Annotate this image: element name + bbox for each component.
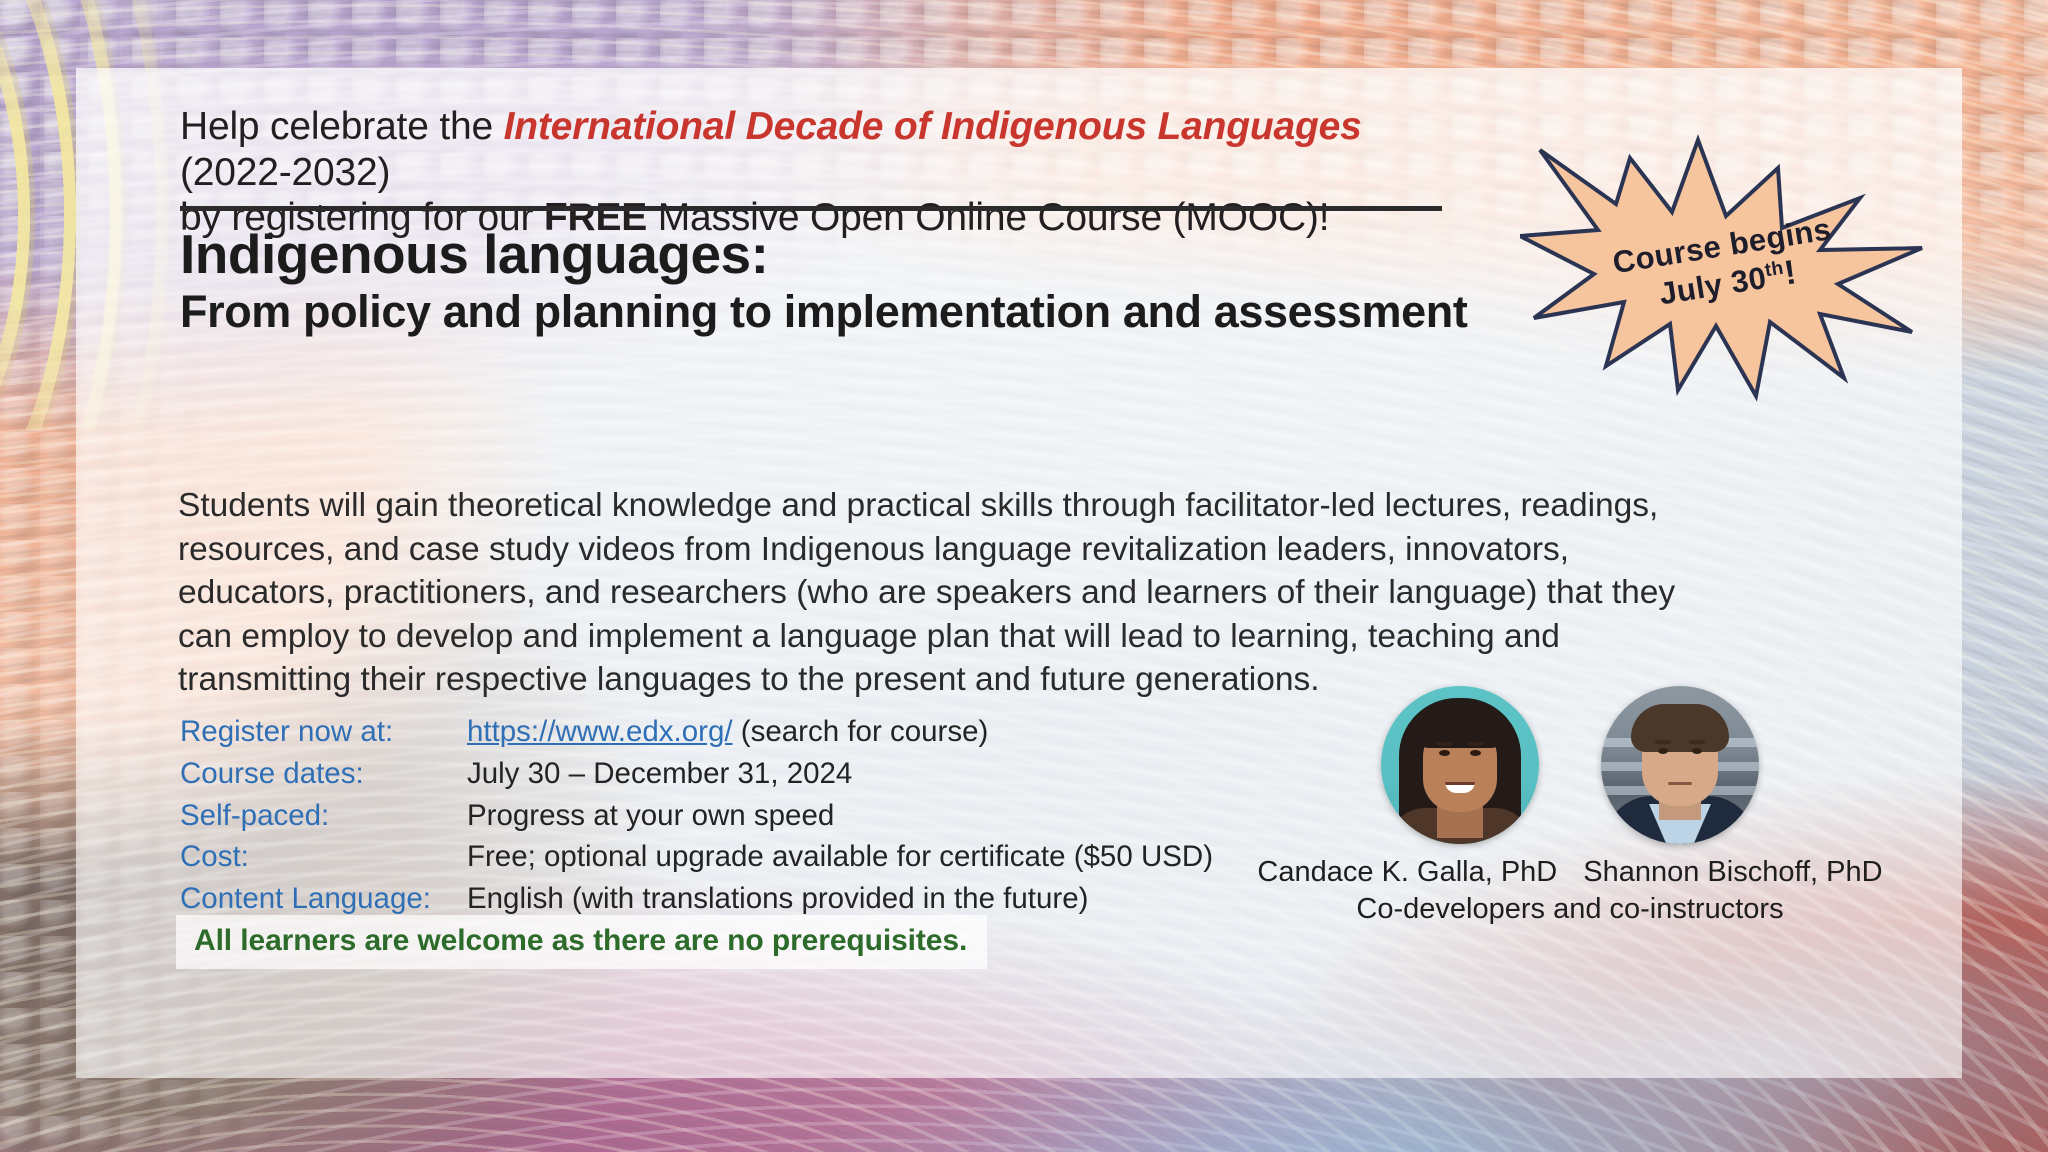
- brow-left: [1436, 742, 1452, 746]
- poster-canvas: Help celebrate the International Decade …: [0, 0, 2048, 1152]
- eyebrow-line1-post: (2022-2032): [180, 151, 390, 194]
- detail-label-register: Register now at:: [180, 713, 467, 755]
- course-description: Students will gain theoretical knowledge…: [178, 484, 1718, 702]
- poster-content: Help celebrate the International Decade …: [0, 0, 2048, 1152]
- starburst-icon: [1520, 132, 1930, 402]
- table-row: Course dates: July 30 – December 31, 202…: [180, 755, 1213, 797]
- instructors-block: Candace K. Galla, PhD Shannon Bischoff, …: [1280, 686, 1860, 926]
- fringe-shape: [1414, 710, 1506, 748]
- eye-left: [1658, 748, 1668, 754]
- course-begins-starburst-badge: Course begins July 30th!: [1520, 132, 1930, 402]
- decade-emphasis: International Decade of Indigenous Langu…: [504, 105, 1362, 148]
- detail-label-self-paced: Self-paced:: [180, 797, 467, 839]
- instructor-name-2: Shannon Bischoff, PhD: [1583, 856, 1882, 889]
- eye-right: [1470, 750, 1481, 756]
- brow-right: [1689, 740, 1705, 744]
- edx-registration-link[interactable]: https://www.edx.org/: [467, 715, 733, 748]
- detail-label-cost: Cost:: [180, 838, 467, 880]
- detail-value-cost: Free; optional upgrade available for cer…: [467, 838, 1213, 880]
- instructor-name-1: Candace K. Galla, PhD: [1257, 856, 1557, 889]
- eyebrow-line-1: Help celebrate the International Decade …: [180, 104, 1470, 195]
- no-prerequisites-banner: All learners are welcome as there are no…: [176, 915, 987, 969]
- detail-value-course-dates: July 30 – December 31, 2024: [467, 755, 1213, 797]
- avatar-shannon-bischoff: [1601, 686, 1759, 844]
- table-row: Self-paced: Progress at your own speed: [180, 797, 1213, 839]
- instructor-names: Candace K. Galla, PhD Shannon Bischoff, …: [1280, 856, 1860, 889]
- instructor-role: Co-developers and co-instructors: [1280, 893, 1860, 926]
- hair-shape: [1631, 704, 1729, 752]
- eye-right: [1692, 748, 1702, 754]
- eyebrow-text: Help celebrate the International Decade …: [180, 104, 1470, 241]
- register-note: (search for course): [733, 715, 989, 748]
- avatar-candace-galla: [1381, 686, 1539, 844]
- portrait-row: [1280, 686, 1860, 844]
- brow-left: [1655, 740, 1671, 744]
- course-details-table: Register now at: https://www.edx.org/ (s…: [180, 713, 1213, 922]
- detail-value-register: https://www.edx.org/ (search for course): [467, 713, 1213, 755]
- eyebrow-line1-pre: Help celebrate the: [180, 105, 504, 148]
- mouth-shape: [1668, 782, 1692, 785]
- brow-right: [1468, 742, 1484, 746]
- header-divider-rule: [180, 206, 1442, 211]
- detail-label-course-dates: Course dates:: [180, 755, 467, 797]
- table-row: Cost: Free; optional upgrade available f…: [180, 838, 1213, 880]
- page-title: Indigenous languages:: [180, 222, 768, 286]
- table-row: Register now at: https://www.edx.org/ (s…: [180, 713, 1213, 755]
- page-subtitle: From policy and planning to implementati…: [180, 286, 1467, 338]
- detail-value-self-paced: Progress at your own speed: [467, 797, 1213, 839]
- eye-left: [1439, 750, 1450, 756]
